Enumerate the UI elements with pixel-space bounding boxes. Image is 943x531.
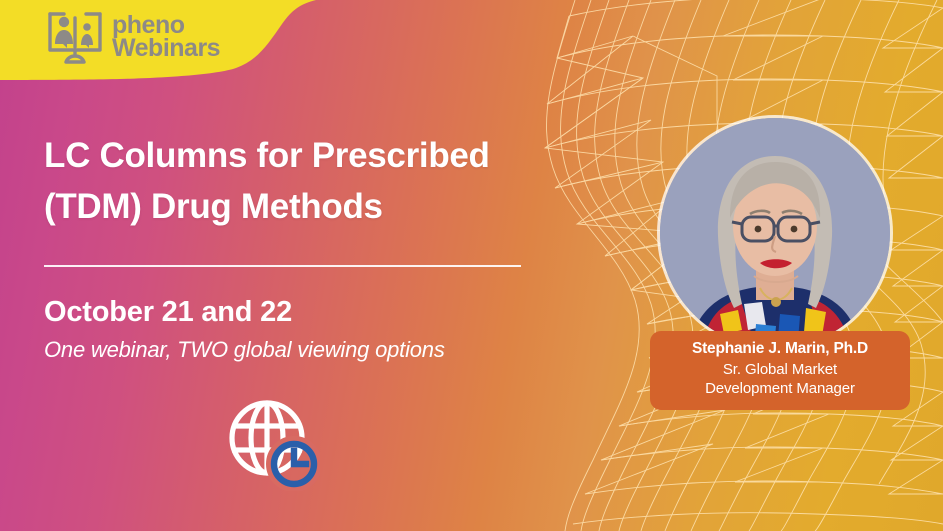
event-tagline: One webinar, TWO global viewing options <box>44 337 445 363</box>
speaker-avatar <box>660 118 890 348</box>
webinar-slide: pheno Webinars LC Columns for Prescribed… <box>0 0 943 531</box>
event-date: October 21 and 22 <box>44 296 292 329</box>
brand-logo-text: pheno Webinars <box>112 14 220 61</box>
speaker-role-line1: Sr. Global Market <box>660 360 900 380</box>
webinar-monitor-icon <box>44 8 106 66</box>
globe-clock-icon <box>225 396 320 491</box>
brand-logo-line2: Webinars <box>112 37 220 60</box>
speaker-name: Stephanie J. Marin, Ph.D <box>660 339 900 360</box>
page-title: LC Columns for Prescribed (TDM) Drug Met… <box>44 131 564 233</box>
speaker-role-line2: Development Manager <box>660 379 900 399</box>
title-divider <box>44 265 521 267</box>
speaker-info-card: Stephanie J. Marin, Ph.D Sr. Global Mark… <box>650 331 910 410</box>
brand-logo[interactable]: pheno Webinars <box>44 6 220 68</box>
